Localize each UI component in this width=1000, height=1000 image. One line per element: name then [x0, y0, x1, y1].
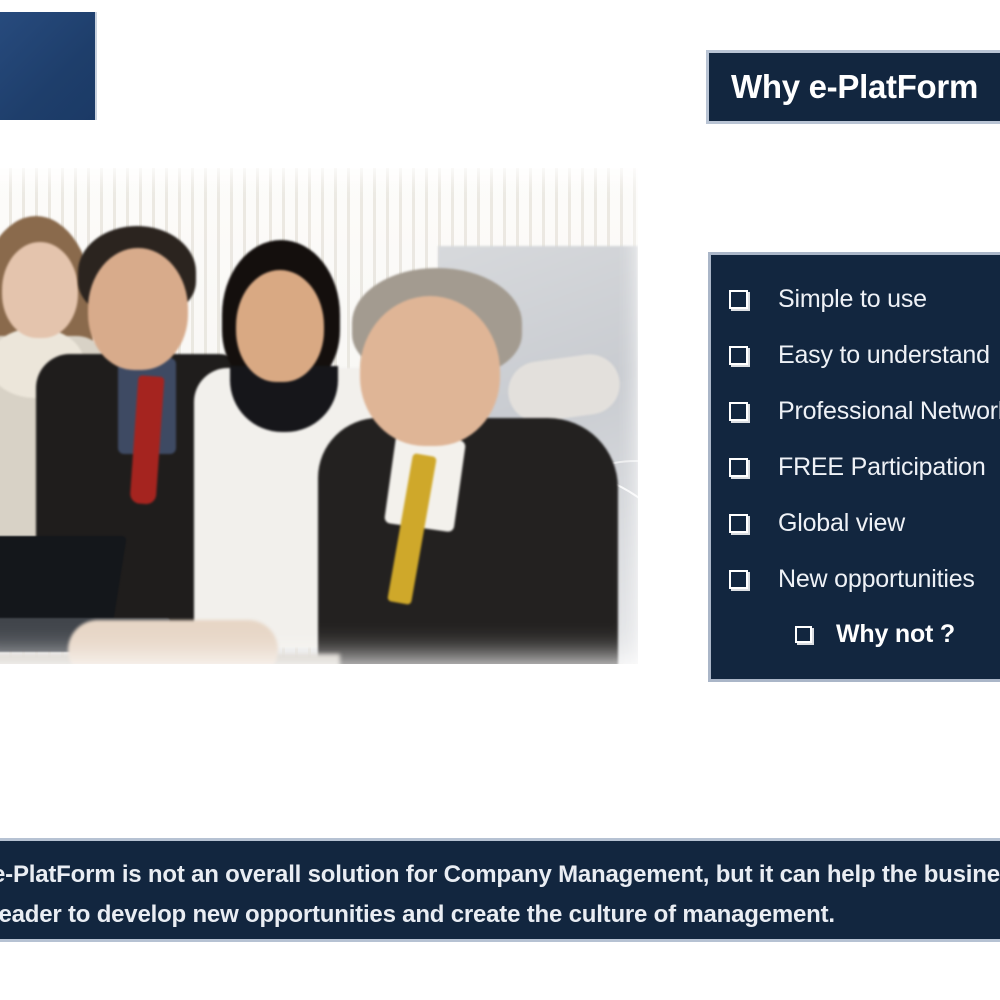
list-item-sub[interactable]: Why not ? [795, 607, 1000, 661]
gesturing-hand-shape [504, 350, 623, 425]
checkbox-square-icon [729, 402, 748, 421]
list-item-label: Easy to understand [778, 341, 990, 370]
list-item-label: New opportunities [778, 565, 975, 594]
footer-caption-bar: e-PlatForm is not an overall solution fo… [0, 838, 1000, 942]
caption-line-1: e-PlatForm is not an overall solution fo… [0, 855, 1000, 895]
list-item[interactable]: Professional Network [729, 383, 1000, 439]
checkbox-square-icon [729, 290, 748, 309]
face-shape [88, 248, 188, 370]
person-man-seated-gray-hair [312, 268, 638, 664]
list-item[interactable]: Easy to understand [729, 327, 1000, 383]
checkbox-square-icon [795, 626, 812, 643]
list-item[interactable]: Global view [729, 495, 1000, 551]
slide-canvas: Form® choice [0, 0, 1000, 1000]
checkbox-square-icon [729, 458, 748, 477]
list-item[interactable]: Simple to use [729, 271, 1000, 327]
checkbox-square-icon [729, 570, 748, 589]
team-meeting-photo [0, 168, 638, 664]
list-item-label: Why not ? [836, 620, 955, 649]
brand-logo[interactable]: Form® choice [0, 12, 97, 120]
checkbox-square-icon [729, 346, 748, 365]
slide-title-bar: Why e-PlatForm [706, 50, 1000, 124]
typing-hands-shape [68, 620, 278, 664]
list-item[interactable]: FREE Participation [729, 439, 1000, 495]
page-title: Why e-PlatForm [709, 68, 978, 106]
list-item-label: Simple to use [778, 285, 927, 314]
laptop-screen [0, 536, 127, 622]
list-item[interactable]: New opportunities [729, 551, 1000, 607]
benefits-panel: Simple to use Easy to understand Profess… [708, 252, 1000, 682]
face-shape [236, 270, 324, 382]
suit-jacket-shape [318, 418, 618, 664]
checkbox-square-icon [729, 514, 748, 533]
caption-line-2: leader to develop new opportunities and … [0, 895, 1000, 935]
list-item-label: FREE Participation [778, 453, 986, 482]
list-item-label: Professional Network [778, 397, 1000, 426]
list-item-label: Global view [778, 509, 905, 538]
face-shape [360, 296, 500, 446]
